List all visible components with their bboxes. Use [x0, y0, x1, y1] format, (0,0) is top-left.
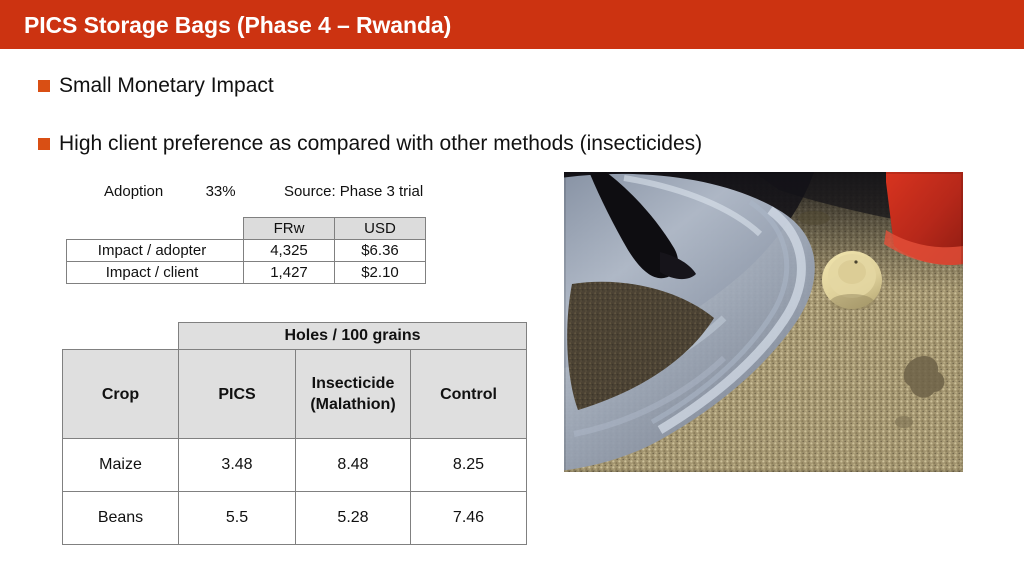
- holes-table-header-insecticide-line2: (Malathion): [296, 394, 410, 415]
- holes-table-cell-control: 7.46: [411, 492, 527, 545]
- bullet-item-1-label: Small Monetary Impact: [59, 73, 274, 99]
- impact-table-row-label: Impact / adopter: [67, 240, 244, 262]
- table-row: Impact / client 1,427 $2.10: [67, 262, 426, 284]
- holes-table-cell-pics: 5.5: [179, 492, 296, 545]
- adoption-value: 33%: [206, 183, 236, 200]
- holes-table-corner-spacer: [63, 323, 179, 350]
- impact-table-row-label: Impact / client: [67, 262, 244, 284]
- bullet-square-icon: [38, 138, 50, 150]
- slide-header-bar: PICS Storage Bags (Phase 4 – Rwanda): [0, 0, 1024, 49]
- impact-table-cell-usd: $6.36: [335, 240, 426, 262]
- table-row: Beans 5.5 5.28 7.46: [63, 492, 527, 545]
- impact-table-header-frw: FRw: [244, 218, 335, 240]
- holes-table-header-insecticide: Insecticide (Malathion): [296, 350, 411, 439]
- bullet-item-1: Small Monetary Impact: [38, 73, 274, 99]
- holes-table-cell-crop: Beans: [63, 492, 179, 545]
- holes-table-header-pics: PICS: [179, 350, 296, 439]
- holes-table-cell-insecticide: 5.28: [296, 492, 411, 545]
- table-header-row: Crop PICS Insecticide (Malathion) Contro…: [63, 350, 527, 439]
- holes-table-cell-crop: Maize: [63, 439, 179, 492]
- holes-table-cell-insecticide: 8.48: [296, 439, 411, 492]
- impact-table-cell-usd: $2.10: [335, 262, 426, 284]
- holes-table-header-insecticide-line1: Insecticide: [296, 373, 410, 394]
- holes-table-cell-control: 8.25: [411, 439, 527, 492]
- holes-table-group-header: Holes / 100 grains: [179, 323, 527, 350]
- adoption-label: Adoption: [104, 183, 163, 200]
- table-row: Maize 3.48 8.48 8.25: [63, 439, 527, 492]
- bullet-square-icon: [38, 80, 50, 92]
- adoption-source: Source: Phase 3 trial: [284, 183, 423, 200]
- impact-table: FRw USD Impact / adopter 4,325 $6.36 Imp…: [66, 217, 426, 284]
- impact-table-corner-cell: [67, 218, 244, 240]
- holes-per-100-grains-table: Holes / 100 grains Crop PICS Insecticide…: [62, 322, 527, 545]
- holes-table-header-crop: Crop: [63, 350, 179, 439]
- pics-bag-photo-image: [564, 172, 963, 472]
- bullet-item-2-label: High client preference as compared with …: [59, 131, 702, 157]
- impact-table-cell-frw: 4,325: [244, 240, 335, 262]
- bullet-item-2: High client preference as compared with …: [38, 131, 702, 157]
- holes-table-cell-pics: 3.48: [179, 439, 296, 492]
- page-title: PICS Storage Bags (Phase 4 – Rwanda): [24, 12, 451, 39]
- impact-table-cell-frw: 1,427: [244, 262, 335, 284]
- impact-table-header-usd: USD: [335, 218, 426, 240]
- adoption-summary-line: Adoption 33% Source: Phase 3 trial: [104, 182, 423, 202]
- pics-bag-photo: [564, 172, 963, 472]
- table-row: Impact / adopter 4,325 $6.36: [67, 240, 426, 262]
- table-header-row: FRw USD: [67, 218, 426, 240]
- holes-table-header-control: Control: [411, 350, 527, 439]
- table-group-header-row: Holes / 100 grains: [63, 323, 527, 350]
